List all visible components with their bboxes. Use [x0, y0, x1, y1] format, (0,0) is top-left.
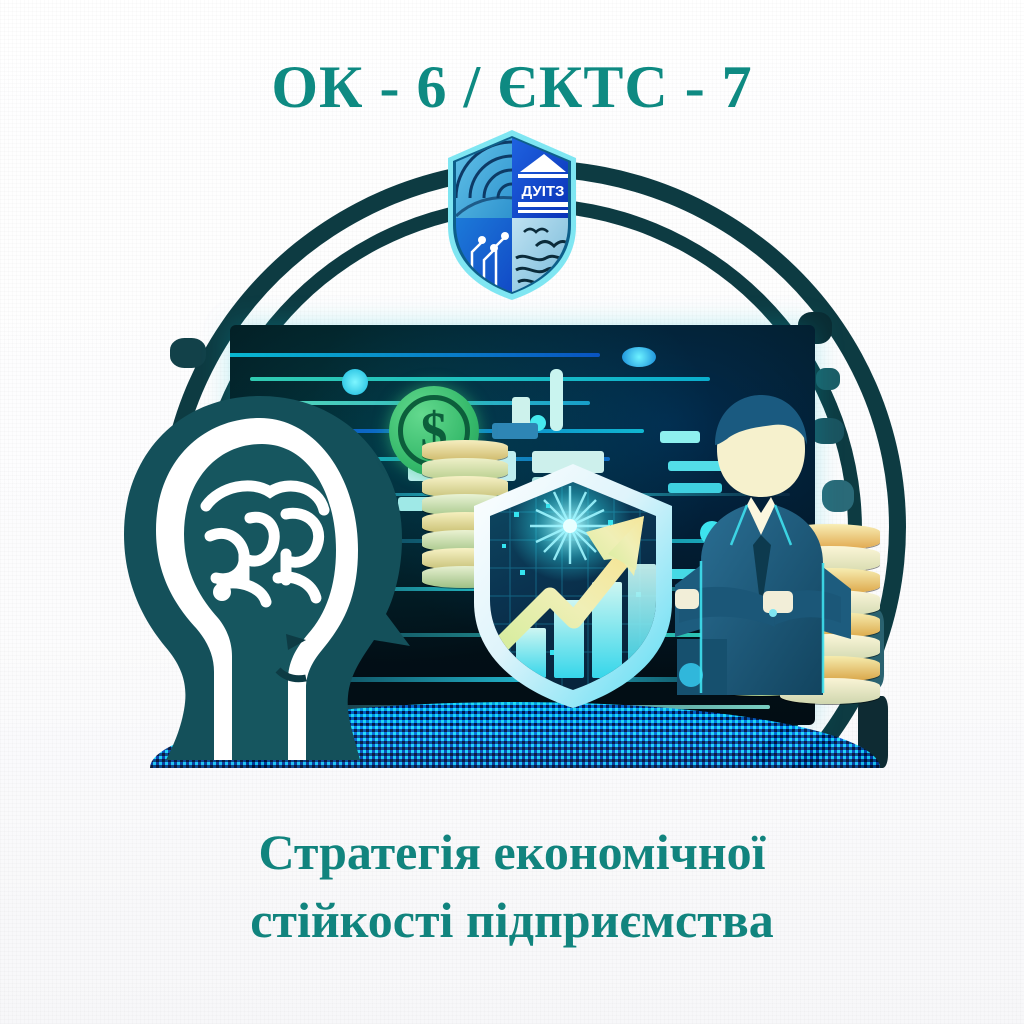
- page-caption: Стратегія економічної стійкості підприєм…: [0, 818, 1024, 954]
- data-line: [230, 353, 600, 357]
- slide-canvas: ОК - 6 / ЄКТС - 7: [0, 0, 1024, 1024]
- growth-shield: [458, 460, 688, 710]
- ui-block: [550, 369, 563, 431]
- university-crest: ДУІТЗ: [440, 128, 584, 300]
- caption-line-2: стійкості підприємства: [0, 886, 1024, 954]
- dome-chip: [170, 338, 206, 368]
- glow-dot: [622, 347, 656, 367]
- ui-block: [492, 423, 538, 439]
- caption-line-1: Стратегія економічної: [0, 818, 1024, 886]
- crest-abbreviation-text: ДУІТЗ: [522, 183, 565, 200]
- data-line: [250, 377, 710, 381]
- page-title: ОК - 6 / ЄКТС - 7: [0, 48, 1024, 126]
